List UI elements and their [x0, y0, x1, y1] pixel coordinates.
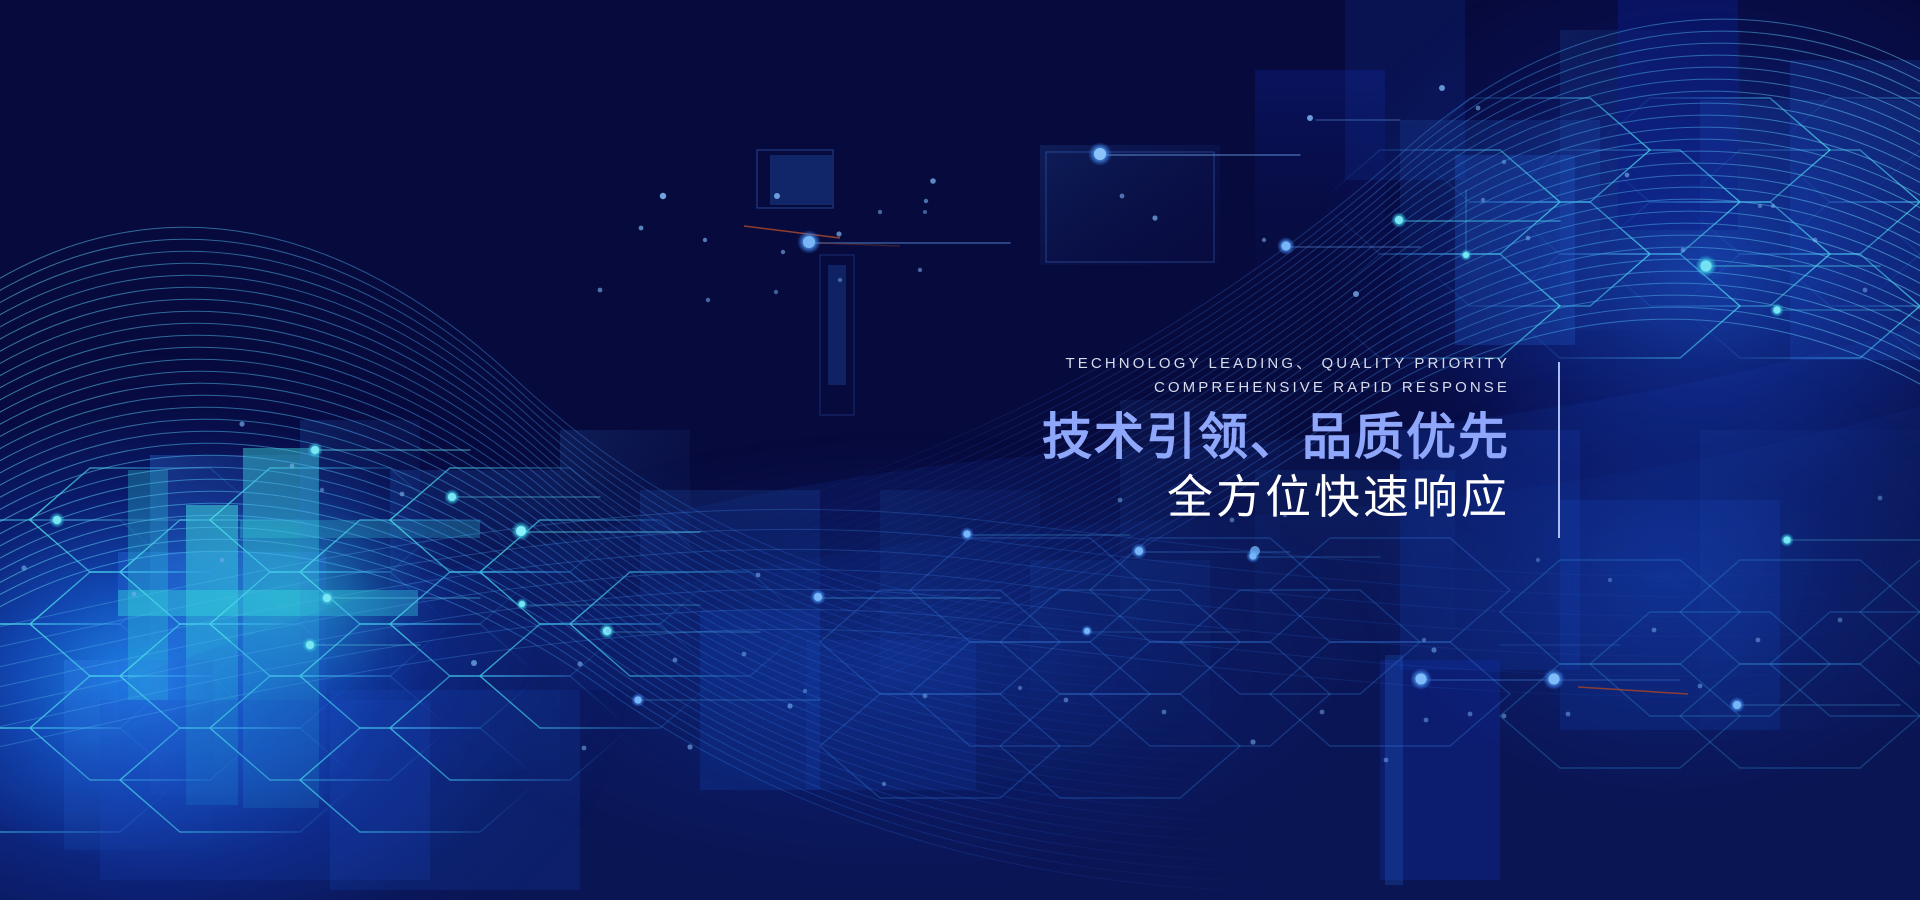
eyebrow-line-2: COMPREHENSIVE RAPID RESPONSE — [900, 376, 1510, 400]
headline-title-line-1: 技术引领、品质优先 — [900, 408, 1510, 466]
eyebrow-line-1: TECHNOLOGY LEADING、 QUALITY PRIORITY — [900, 352, 1510, 376]
headline-block: TECHNOLOGY LEADING、 QUALITY PRIORITY COM… — [900, 352, 1510, 525]
headline-vertical-divider — [1558, 362, 1560, 538]
hero-banner: TECHNOLOGY LEADING、 QUALITY PRIORITY COM… — [0, 0, 1920, 900]
headline-title-line-2: 全方位快速响应 — [900, 469, 1510, 525]
